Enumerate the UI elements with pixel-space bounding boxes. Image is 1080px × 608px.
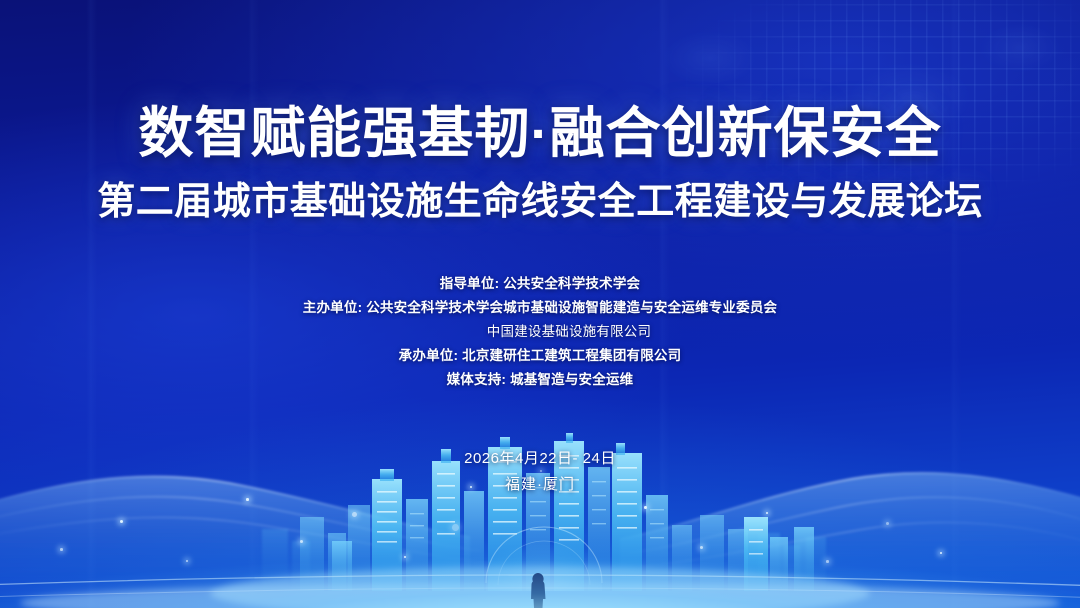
organization-row: 中国建设基础设施有限公司 [0, 320, 1080, 344]
page-title: 数智赋能强基韧·融合创新保安全 [0, 104, 1080, 163]
organization-label: 承办单位: [399, 348, 459, 363]
organization-row: 媒体支持: 城基智造与安全运维 [0, 368, 1080, 392]
organization-value: 公共安全科学技术学会城市基础设施智能建造与安全运维专业委员会 [366, 300, 777, 315]
organization-label: 主办单位: [303, 300, 363, 315]
organization-label: 媒体支持: [447, 372, 507, 387]
event-location: 福建·厦门 [0, 472, 1080, 498]
organization-value: 公共安全科学技术学会 [503, 276, 640, 291]
poster-canvas: 数智赋能强基韧·融合创新保安全 第二届城市基础设施生命线安全工程建设与发展论坛 … [0, 0, 1080, 608]
poster-content: 数智赋能强基韧·融合创新保安全 第二届城市基础设施生命线安全工程建设与发展论坛 … [0, 0, 1080, 608]
organization-value: 北京建研住工建筑工程集团有限公司 [462, 348, 681, 363]
organization-value: 中国建设基础设施有限公司 [487, 324, 651, 339]
organization-row: 指导单位: 公共安全科学技术学会 [0, 272, 1080, 296]
organization-row: 承办单位: 北京建研住工建筑工程集团有限公司 [0, 344, 1080, 368]
event-date: 2026年4月22日- 24日 [0, 446, 1080, 472]
organization-value: 城基智造与安全运维 [510, 372, 633, 387]
page-subtitle: 第二届城市基础设施生命线安全工程建设与发展论坛 [0, 182, 1080, 224]
organization-list: 指导单位: 公共安全科学技术学会主办单位: 公共安全科学技术学会城市基础设施智能… [0, 272, 1080, 392]
event-meta: 2026年4月22日- 24日 福建·厦门 [0, 446, 1080, 498]
organization-row: 主办单位: 公共安全科学技术学会城市基础设施智能建造与安全运维专业委员会 [0, 296, 1080, 320]
organization-label: 指导单位: [440, 276, 500, 291]
